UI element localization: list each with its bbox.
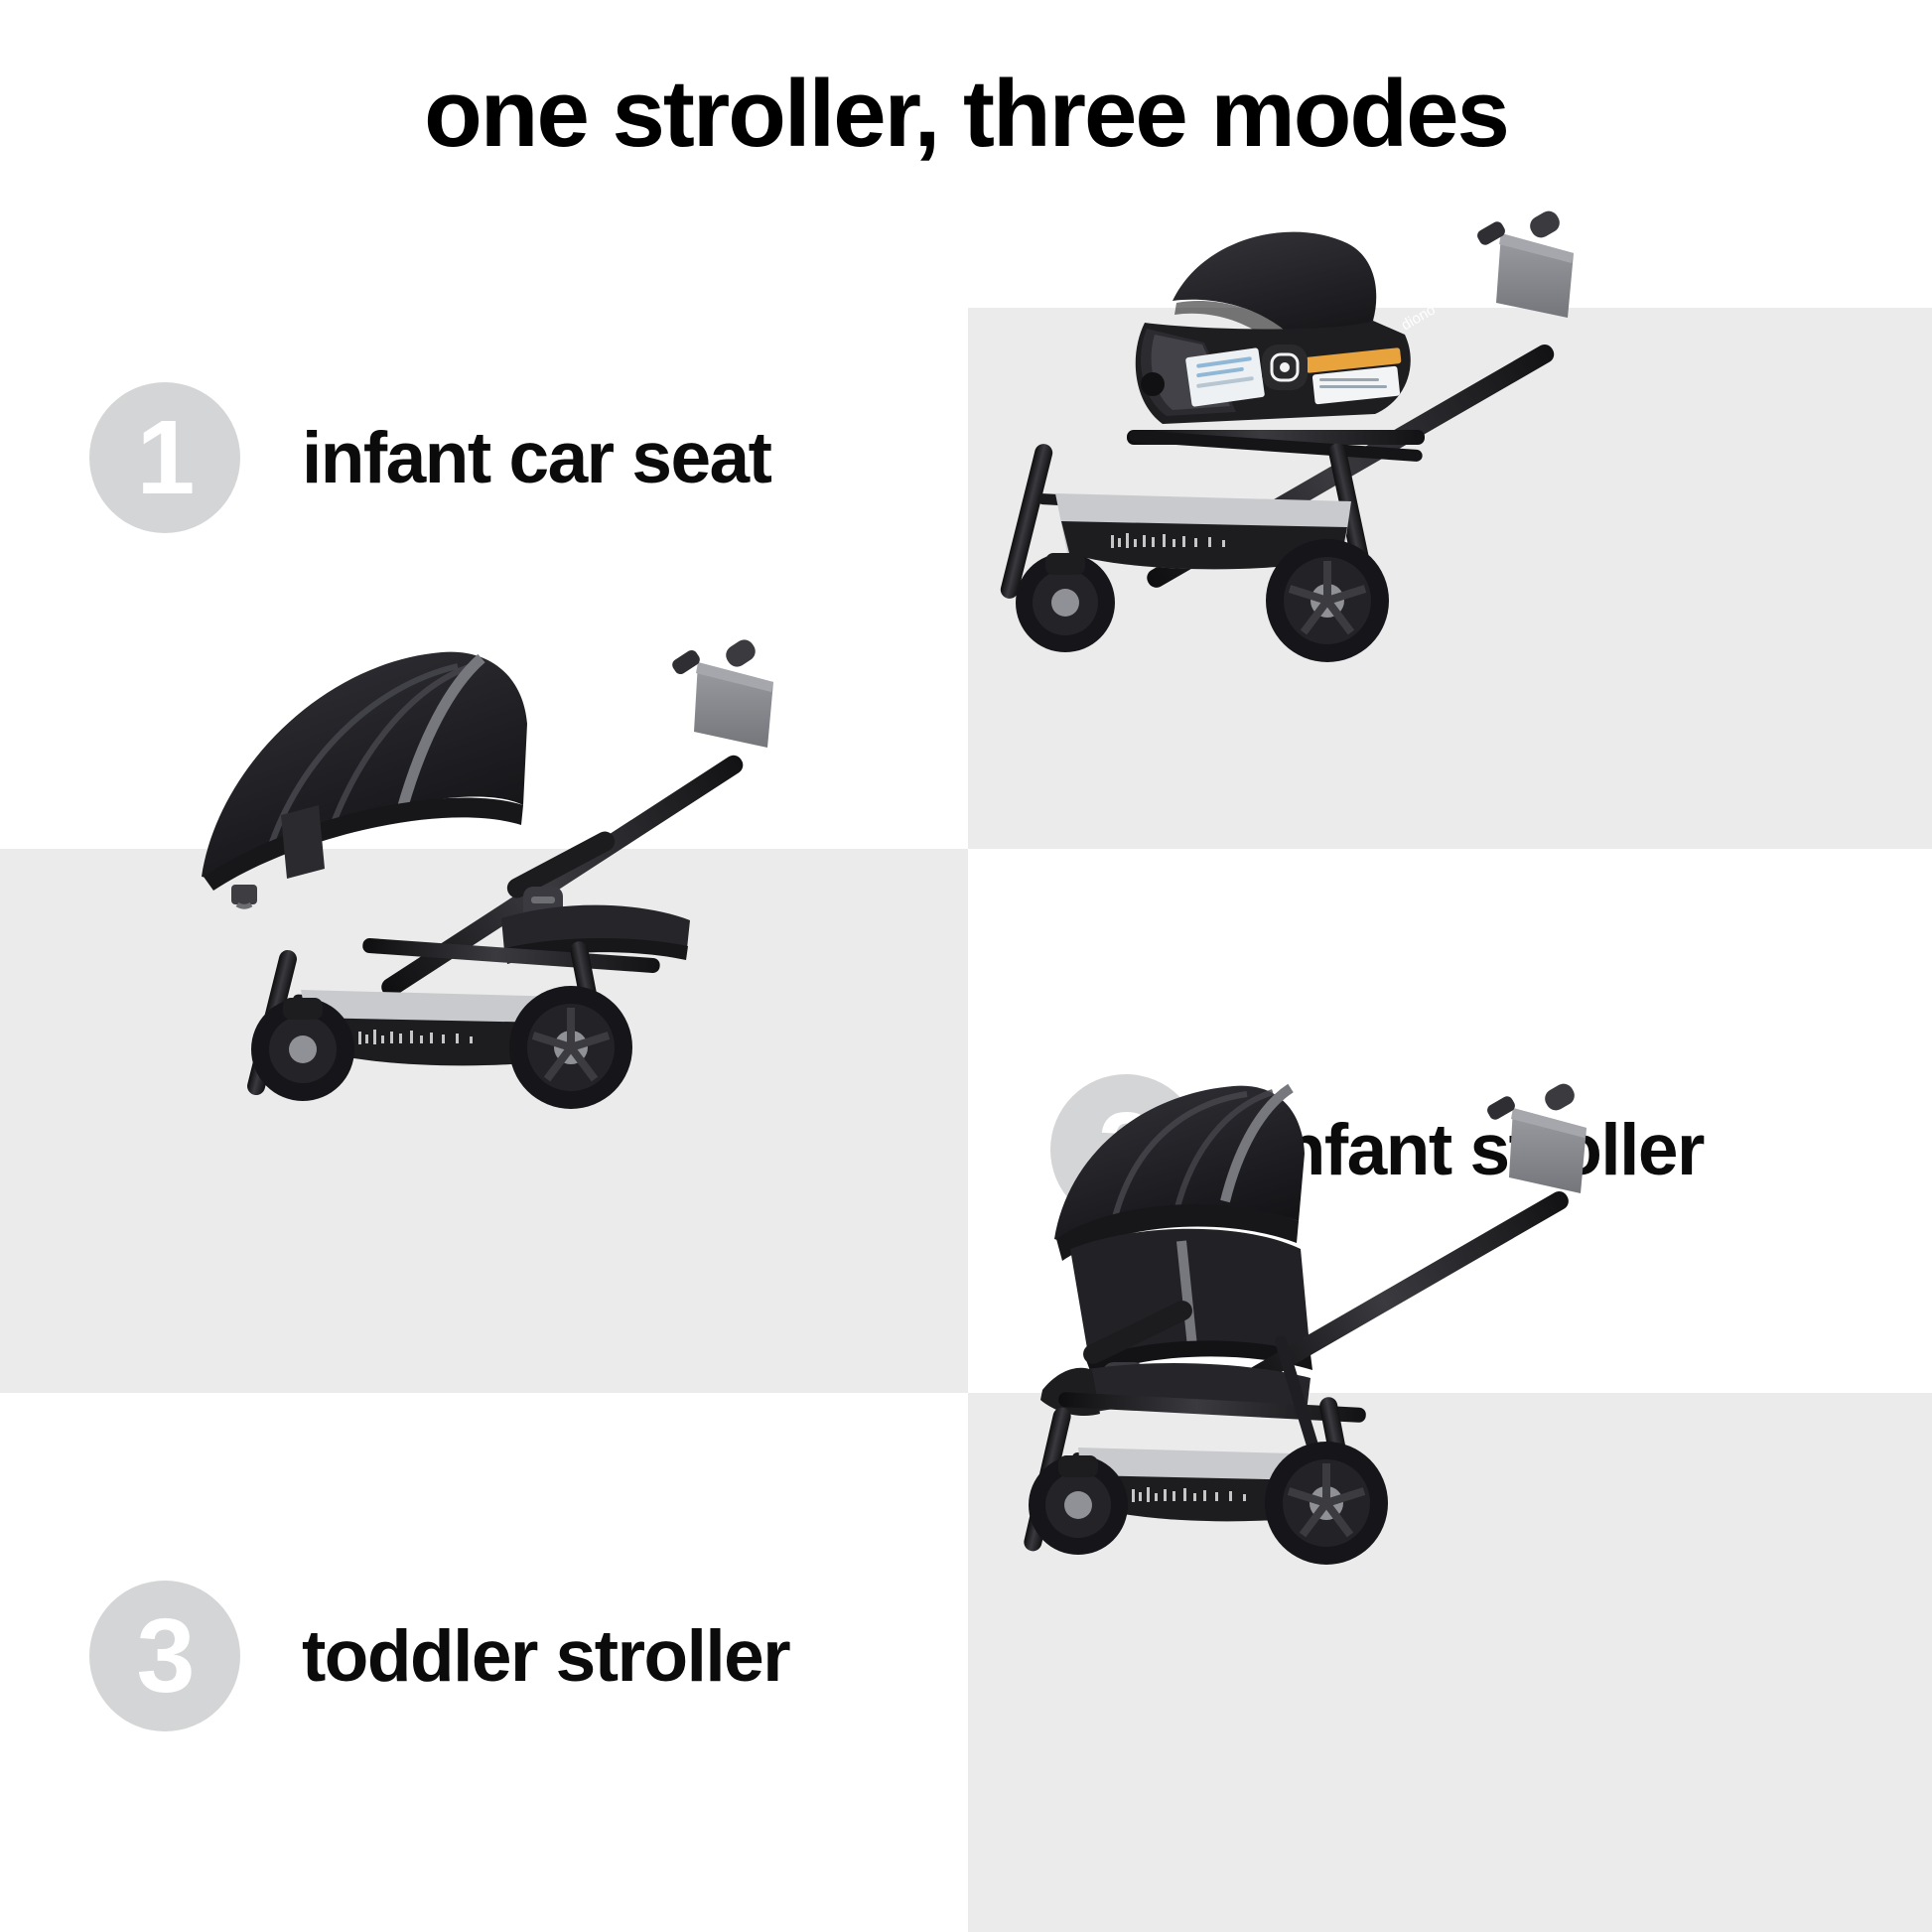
diono-wordmark-icon: diono (1376, 1187, 1416, 1220)
badge-three-number: 3 (137, 1603, 194, 1709)
badge-one: 1 (89, 382, 240, 533)
cup-holder-icon (1475, 219, 1574, 318)
product-photo-toddler-stroller: diono (983, 1072, 1618, 1559)
mode-row-infant-car-seat: 1 infant car seat (89, 382, 770, 533)
cup-holder-icon (1485, 1094, 1587, 1193)
canopy-icon (202, 652, 527, 907)
product-photo-infant-car-seat: diono (978, 204, 1613, 670)
diono-wordmark-icon: diono (1399, 301, 1439, 334)
mode-row-toddler-stroller: 3 toddler stroller (89, 1581, 789, 1731)
diono-wordmark-icon: diono (604, 711, 643, 745)
cup-holder-icon (670, 648, 773, 748)
diono-emblem-icon (1262, 345, 1308, 390)
page-title: one stroller, three modes (0, 62, 1932, 167)
badge-three: 3 (89, 1581, 240, 1731)
seat-unit (501, 828, 690, 964)
mode-label-toddler-stroller: toddler stroller (302, 1615, 789, 1698)
product-photo-infant-stroller: diono (174, 621, 814, 1107)
badge-one-number: 1 (137, 405, 194, 510)
infant-car-seat (1136, 232, 1411, 424)
mode-label-infant-car-seat: infant car seat (302, 417, 770, 499)
